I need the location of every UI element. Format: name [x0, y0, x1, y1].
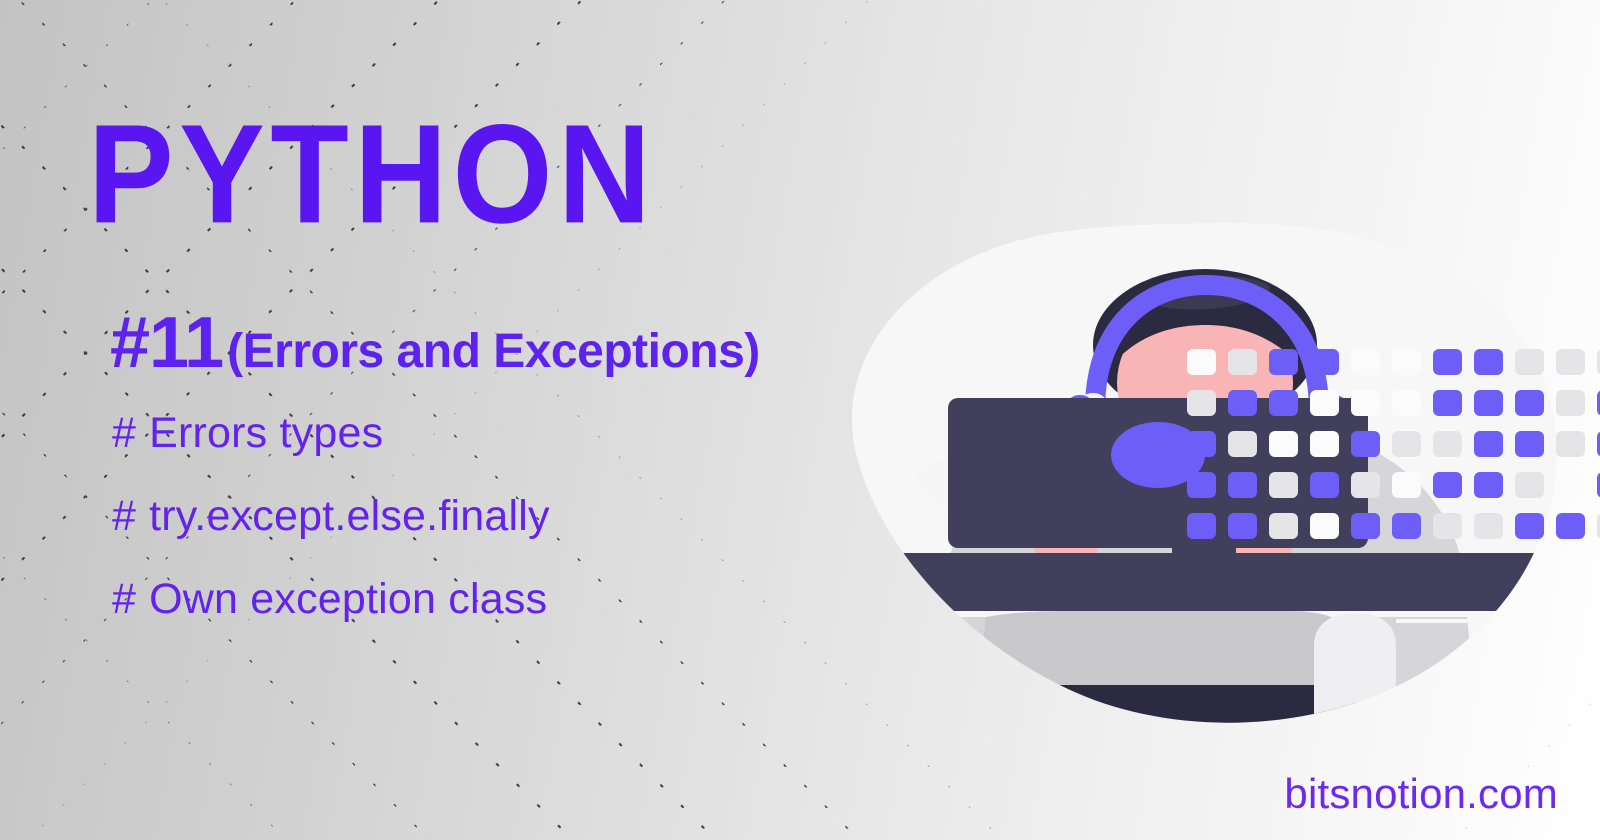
tile: [1228, 472, 1257, 498]
list-item: #Errors types: [112, 412, 550, 455]
tile: [1228, 349, 1257, 375]
tile: [1515, 431, 1544, 457]
tile: [1310, 349, 1339, 375]
tile: [1515, 513, 1544, 539]
tile: [1515, 349, 1544, 375]
tile: [1392, 472, 1421, 498]
tile: [1392, 349, 1421, 375]
episode-topic: (Errors and Exceptions): [227, 325, 760, 378]
tile: [1474, 390, 1503, 416]
list-item-label: try.except.else.finally: [149, 492, 550, 540]
tile: [1351, 390, 1380, 416]
tile: [1351, 431, 1380, 457]
tile: [1269, 431, 1298, 457]
tile: [1187, 472, 1216, 498]
tile: [1310, 513, 1339, 539]
tile: [1187, 349, 1216, 375]
tile: [1269, 472, 1298, 498]
tile: [1392, 390, 1421, 416]
hash-marker: #: [112, 409, 136, 457]
tile: [1187, 390, 1216, 416]
topic-list: #Errors types #try.except.else.finally #…: [112, 412, 550, 661]
tile: [1351, 513, 1380, 539]
tile: [1433, 349, 1462, 375]
episode-subtitle: #11(Errors and Exceptions): [110, 302, 760, 384]
tile: [1433, 513, 1462, 539]
decorative-tile-grid: [1187, 349, 1600, 554]
tile: [1474, 472, 1503, 498]
tile: [1187, 513, 1216, 539]
tile: [1310, 431, 1339, 457]
tile: [1228, 513, 1257, 539]
tile: [1474, 431, 1503, 457]
tile: [1515, 472, 1544, 498]
episode-number: #11: [110, 303, 223, 383]
tile: [1474, 349, 1503, 375]
tile: [1433, 472, 1462, 498]
tile: [1433, 390, 1462, 416]
tile: [1187, 431, 1216, 457]
list-item-label: Own exception class: [149, 575, 547, 623]
tile: [1556, 390, 1585, 416]
tile: [1228, 390, 1257, 416]
tile: [1269, 390, 1298, 416]
tile: [1556, 472, 1585, 498]
list-item: #try.except.else.finally: [112, 495, 550, 538]
tile: [1556, 513, 1585, 539]
tile: [1556, 349, 1585, 375]
list-item: #Own exception class: [112, 578, 550, 621]
tile: [1269, 513, 1298, 539]
tile: [1474, 513, 1503, 539]
tile: [1392, 513, 1421, 539]
website-url[interactable]: bitsnotion.com: [1284, 770, 1558, 818]
hash-marker: #: [112, 492, 136, 540]
tile: [1351, 472, 1380, 498]
tile: [1310, 472, 1339, 498]
page-title: PYTHON: [88, 104, 656, 245]
side-panel: [1314, 613, 1396, 735]
tile: [1392, 431, 1421, 457]
desk-surface: [820, 553, 1600, 611]
tile: [1228, 431, 1257, 457]
list-item-label: Errors types: [149, 409, 383, 457]
tile: [1515, 390, 1544, 416]
chair-shadow: [1026, 685, 1356, 735]
hash-marker: #: [112, 575, 136, 623]
poster-canvas: PYTHON #11(Errors and Exceptions) #Error…: [0, 0, 1600, 840]
tile: [1556, 431, 1585, 457]
tile: [1310, 390, 1339, 416]
tile: [1433, 431, 1462, 457]
tile: [1269, 349, 1298, 375]
panel-line: [1396, 619, 1600, 623]
tile: [1351, 349, 1380, 375]
